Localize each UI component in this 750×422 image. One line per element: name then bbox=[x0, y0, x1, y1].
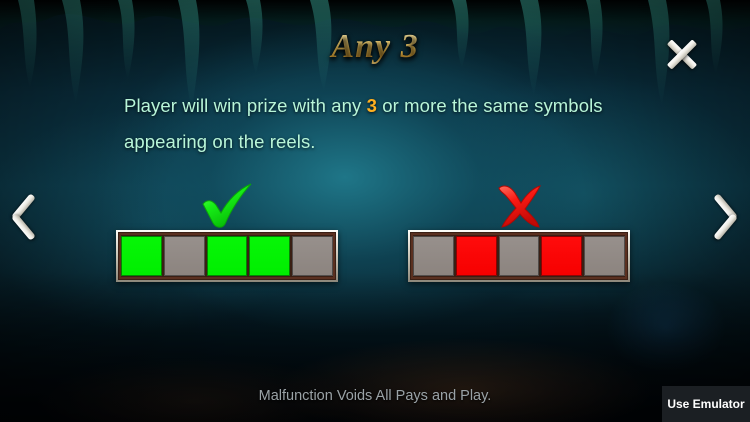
chevron-right-icon[interactable] bbox=[708, 190, 742, 240]
malfunction-notice: Malfunction Voids All Pays and Play. bbox=[0, 388, 750, 404]
reel-cell bbox=[292, 236, 333, 276]
page-title: Any 3 bbox=[0, 28, 750, 66]
chevron-right-stroke-bottom bbox=[713, 213, 738, 240]
reel-cell bbox=[121, 236, 162, 276]
reel-cell bbox=[164, 236, 205, 276]
check-icon bbox=[195, 182, 259, 230]
invalid-example bbox=[408, 182, 630, 282]
cross-icon bbox=[490, 182, 548, 230]
game-paytable-screen: Any 3 Player will win prize with any 3 o… bbox=[0, 0, 750, 422]
reel-cell bbox=[207, 236, 248, 276]
invalid-example-reel bbox=[408, 230, 630, 282]
reel-cell bbox=[541, 236, 582, 276]
valid-example bbox=[116, 182, 338, 282]
valid-example-mark bbox=[116, 182, 338, 230]
chevron-left-icon[interactable] bbox=[8, 190, 42, 240]
description-highlight: 3 bbox=[367, 95, 377, 116]
description-part-1: Player will win prize with any bbox=[124, 95, 367, 116]
description-text: Player will win prize with any 3 or more… bbox=[124, 88, 644, 160]
reel-cell bbox=[249, 236, 290, 276]
reel-cell bbox=[499, 236, 540, 276]
reel-cell bbox=[584, 236, 625, 276]
close-icon[interactable] bbox=[662, 34, 702, 74]
reel-cell bbox=[413, 236, 454, 276]
invalid-example-mark bbox=[408, 182, 630, 230]
reel-cell bbox=[456, 236, 497, 276]
valid-example-reel bbox=[116, 230, 338, 282]
use-emulator-button[interactable]: Use Emulator bbox=[662, 386, 750, 422]
chevron-left-stroke-bottom bbox=[11, 213, 36, 240]
